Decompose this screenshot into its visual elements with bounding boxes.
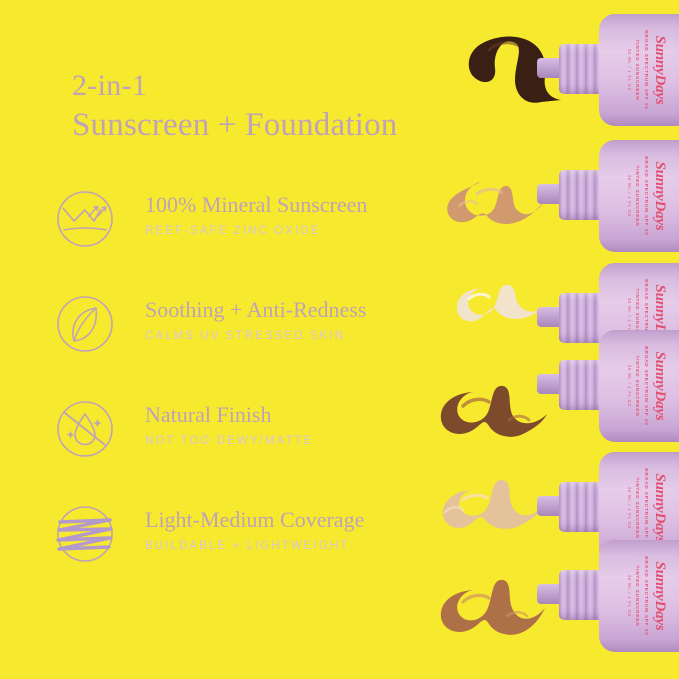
claim-line-1: BROAD SPECTRUM SPF 30 — [643, 16, 650, 124]
claim-line-2: TINTED SUNSCREEN — [634, 332, 641, 440]
product-unit: SunnyDays BROAD SPECTRUM SPF 30 TINTED S… — [419, 14, 679, 144]
feature-text-block: Light-Medium Coverage BUILDABLE + LIGHTW… — [145, 506, 364, 555]
tube-label: SunnyDays BROAD SPECTRUM SPF 30 TINTED S… — [626, 142, 668, 250]
brand-name: SunnyDays — [652, 142, 668, 250]
claim-line-2: TINTED SUNSCREEN — [634, 542, 641, 650]
product-unit: SunnyDays BROAD SPECTRUM SPF 30 TINTED S… — [419, 140, 679, 270]
tube-label: SunnyDays BROAD SPECTRUM SPF 30 TINTED S… — [626, 332, 668, 440]
product-unit: SunnyDays BROAD SPECTRUM SPF 30 TINTED S… — [419, 330, 679, 460]
tube-label: SunnyDays BROAD SPECTRUM SPF 30 TINTED S… — [626, 16, 668, 124]
brand-name: SunnyDays — [652, 332, 668, 440]
feature-title: Light-Medium Coverage — [145, 506, 364, 534]
feature-title: Soothing + Anti-Redness — [145, 296, 366, 324]
claim-line-1: BROAD SPECTRUM SPF 30 — [643, 142, 650, 250]
product-infographic: 2-in-1 Sunscreen + Foundation 100% Miner… — [0, 0, 679, 679]
feature-subtitle: REEF-SAFE ZINC OXIDE — [145, 222, 367, 240]
brand-name: SunnyDays — [652, 542, 668, 650]
net-size: 30 ML / 1 FL OZ — [626, 542, 633, 650]
product-tube: SunnyDays BROAD SPECTRUM SPF 30 TINTED S… — [599, 540, 679, 652]
no-dewy-droplet-icon — [56, 400, 114, 458]
net-size: 30 ML / 1 FL OZ — [626, 332, 633, 440]
product-tube: SunnyDays BROAD SPECTRUM SPF 30 TINTED S… — [599, 140, 679, 252]
leaf-icon — [56, 295, 114, 353]
feature-subtitle: NOT TOO DEWY/MATTE — [145, 432, 314, 450]
product-tube: SunnyDays BROAD SPECTRUM SPF 30 TINTED S… — [599, 14, 679, 126]
feature-subtitle: BUILDABLE + LIGHTWEIGHT — [145, 537, 364, 555]
claim-line-1: BROAD SPECTRUM SPF 30 — [643, 542, 650, 650]
claim-line-2: TINTED SUNSCREEN — [634, 16, 641, 124]
feature-text-block: Soothing + Anti-Redness CALMS UV STRESSE… — [145, 296, 366, 345]
feature-subtitle: CALMS UV STRESSED SKIN — [145, 327, 366, 345]
product-tube: SunnyDays BROAD SPECTRUM SPF 30 TINTED S… — [599, 330, 679, 442]
feature-text-block: 100% Mineral Sunscreen REEF-SAFE ZINC OX… — [145, 191, 367, 240]
tube-label: SunnyDays BROAD SPECTRUM SPF 30 TINTED S… — [626, 542, 668, 650]
feature-text-block: Natural Finish NOT TOO DEWY/MATTE — [145, 401, 314, 450]
net-size: 30 ML / 1 FL OZ — [626, 16, 633, 124]
feature-title: 100% Mineral Sunscreen — [145, 191, 367, 219]
feature-item-mineral-sunscreen: 100% Mineral Sunscreen REEF-SAFE ZINC OX… — [56, 188, 476, 293]
product-tube-column: SunnyDays BROAD SPECTRUM SPF 30 TINTED S… — [419, 0, 679, 679]
claim-line-1: BROAD SPECTRUM SPF 30 — [643, 332, 650, 440]
brand-name: SunnyDays — [652, 16, 668, 124]
product-unit: SunnyDays BROAD SPECTRUM SPF 30 TINTED S… — [419, 540, 679, 670]
sun-rays-reflect-icon — [56, 190, 114, 248]
coverage-sphere-icon — [56, 505, 114, 563]
claim-line-2: TINTED SUNSCREEN — [634, 142, 641, 250]
net-size: 30 ML / 1 FL OZ — [626, 142, 633, 250]
feature-title: Natural Finish — [145, 401, 314, 429]
